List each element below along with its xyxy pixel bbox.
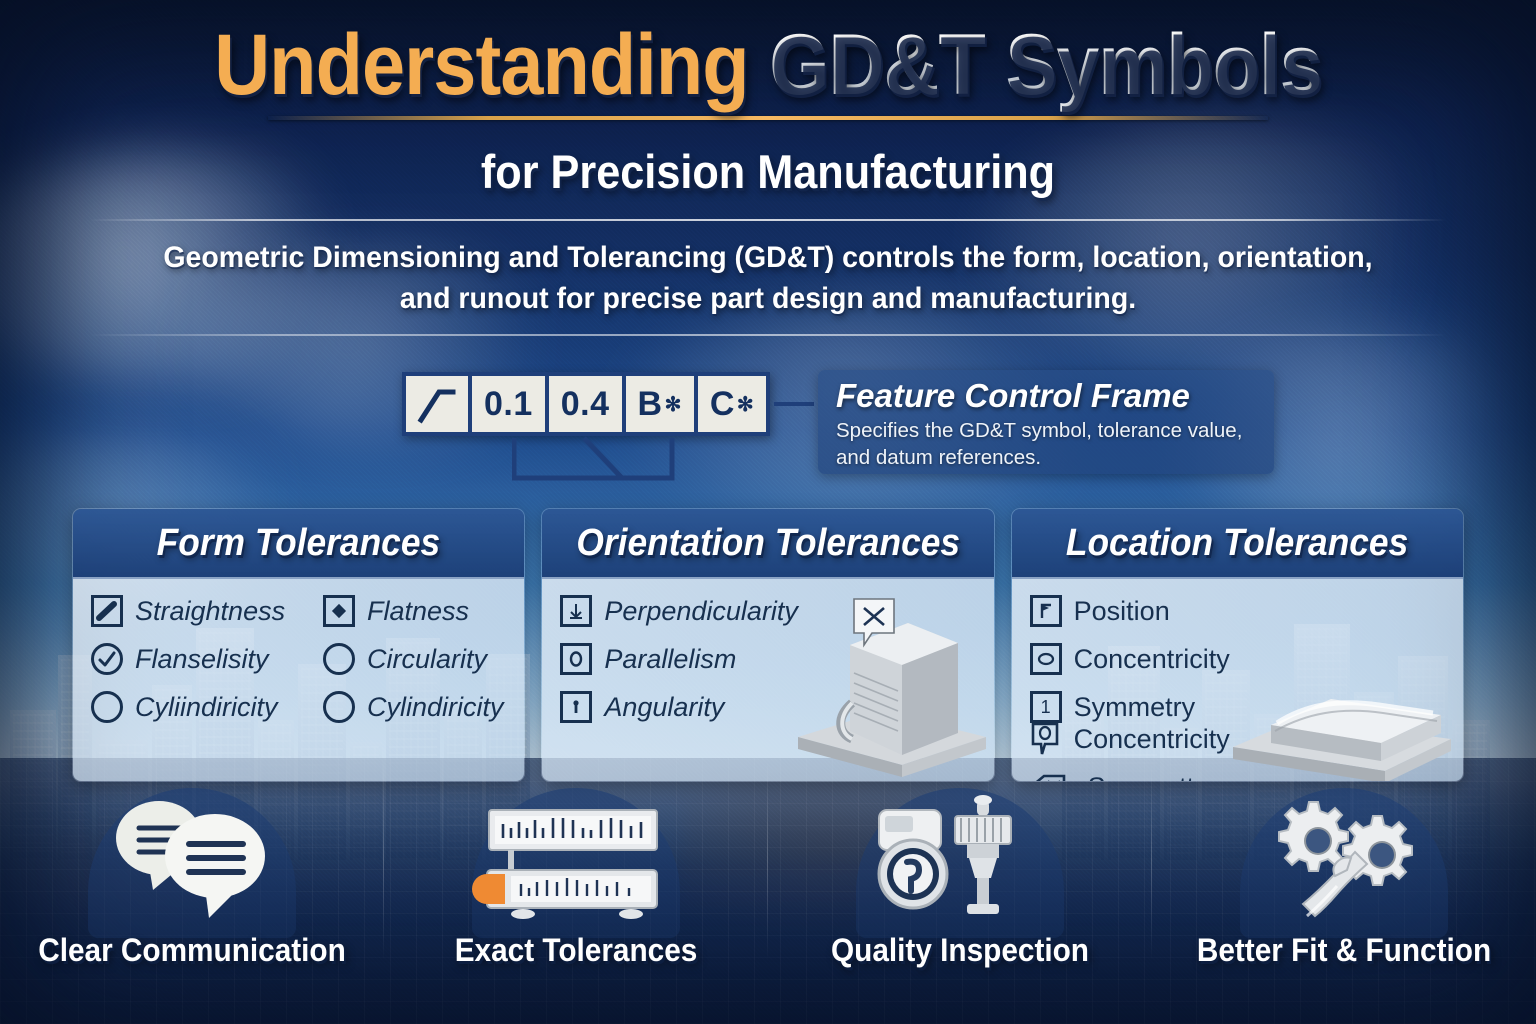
fcf-cell-datum-c: C✻ xyxy=(694,372,770,436)
card-orientation-header: Orientation Tolerances xyxy=(542,509,993,579)
benefit-label: Better Fit & Function xyxy=(1165,932,1522,969)
tolerance-item-concentricity-right[interactable]: Concentricity xyxy=(1030,723,1230,755)
header-divider-bottom xyxy=(90,334,1446,336)
form-column-left: Straightness Flanselisity Cyliindiricity xyxy=(91,595,323,723)
square-one-icon: 1 xyxy=(1030,691,1062,723)
tolerance-item-symmetry[interactable]: 1 Symmetry xyxy=(1030,691,1246,723)
tolerance-label: Perpendicularity xyxy=(604,596,798,627)
card-orientation-tolerances[interactable]: Orientation Tolerances Perpendicularity … xyxy=(541,508,994,782)
caliper-scale-icon xyxy=(471,786,681,936)
title-part-understanding: Understanding xyxy=(214,17,748,113)
callout-desc-line-2: and datum references. xyxy=(836,445,1258,471)
card-location-title: Location Tolerances xyxy=(1066,522,1408,565)
square-perpendicular-icon xyxy=(560,595,592,627)
tolerance-item-straightness[interactable]: Straightness xyxy=(91,595,323,627)
callout-description: Specifies the GD&T symbol, tolerance val… xyxy=(836,418,1258,470)
callout-desc-line-1: Specifies the GD&T symbol, tolerance val… xyxy=(836,418,1258,444)
tolerance-cards: Form Tolerances Straightness Flanse xyxy=(72,508,1464,782)
feature-control-frame-diagram: 0.1 0.4 B✻ C✻ xyxy=(402,372,770,436)
card-orientation-body: Perpendicularity Parallelism Angularity xyxy=(542,579,993,781)
benefit-exact-tolerances[interactable]: Exact Tolerances xyxy=(384,780,768,1024)
benefit-icon-wrapper xyxy=(855,786,1065,936)
square-pin-icon xyxy=(560,691,592,723)
gold-accent-rule xyxy=(268,116,1268,120)
tolerance-label: Flatness xyxy=(367,596,469,627)
angularity-symbol-icon xyxy=(415,382,459,426)
tolerance-item-flanselisity[interactable]: Flanselisity xyxy=(91,643,323,675)
speech-bubbles-icon xyxy=(87,786,297,936)
leader-line xyxy=(512,436,812,482)
page-subtitle: for Precision Manufacturing xyxy=(61,144,1474,199)
tolerance-item-position[interactable]: Position xyxy=(1030,595,1246,627)
feature-control-frame-callout: Feature Control Frame Specifies the GD&T… xyxy=(818,370,1274,474)
card-location-tolerances[interactable]: Location Tolerances Position Concen xyxy=(1011,508,1464,782)
tolerance-label: Angularity xyxy=(604,692,724,723)
benefit-clear-communication[interactable]: Clear Communication xyxy=(0,780,384,1024)
tolerance-label: Circularity xyxy=(367,644,487,675)
header-divider-top xyxy=(90,219,1446,221)
benefit-icon-wrapper xyxy=(87,786,297,936)
form-column-right: Flatness Circularity Cylindiricity xyxy=(323,595,504,723)
card-form-tolerances[interactable]: Form Tolerances Straightness Flanse xyxy=(72,508,525,782)
gears-wrench-icon xyxy=(1239,786,1449,936)
page-title: Understanding GD&T Symbols xyxy=(77,22,1459,108)
tolerance-label: Position xyxy=(1074,596,1170,627)
circle-icon xyxy=(323,691,355,723)
square-diamond-icon xyxy=(323,595,355,627)
form-tolerance-list: Straightness Flanselisity Cyliindiricity xyxy=(91,595,506,723)
callout-title: Feature Control Frame xyxy=(836,378,1258,414)
circle-check-icon xyxy=(91,643,123,675)
fcf-cell-datum-b: B✻ xyxy=(622,372,698,436)
datum-c-modifier: ✻ xyxy=(737,392,754,417)
circle-icon xyxy=(91,691,123,723)
tolerance-item-cylindiricity[interactable]: Cylindiricity xyxy=(323,691,504,723)
card-form-header: Form Tolerances xyxy=(73,509,524,579)
tolerance-label: Straightness xyxy=(135,596,285,627)
fcf-cell-tolerance-2: 0.4 xyxy=(545,372,626,436)
feature-control-frame: 0.1 0.4 B✻ C✻ xyxy=(402,372,770,436)
location-column-left: Position Concentricity 1 Symmetry xyxy=(1030,595,1246,723)
fcf-cell-symbol xyxy=(402,372,472,436)
card-location-header: Location Tolerances xyxy=(1012,509,1463,579)
location-column-right: Concentricity Symmetty xyxy=(1030,723,1230,782)
tolerance-label: Concentricity xyxy=(1074,644,1230,675)
callout-connector xyxy=(774,400,814,408)
benefit-quality-inspection[interactable]: Quality Inspection xyxy=(768,780,1152,1024)
card-orientation-title: Orientation Tolerances xyxy=(576,522,960,565)
datum-c-letter: C xyxy=(710,385,735,424)
card-form-title: Form Tolerances xyxy=(157,522,440,565)
intro-line-2: and runout for precise part design and m… xyxy=(38,278,1497,319)
benefit-label: Quality Inspection xyxy=(781,932,1138,969)
benefits-row: Clear Communication xyxy=(0,780,1536,1024)
tolerance-label: Concentricity xyxy=(1074,724,1230,755)
square-flag-icon xyxy=(1030,595,1062,627)
intro-line-1: Geometric Dimensioning and Tolerancing (… xyxy=(38,237,1497,278)
tolerance-item-flatness[interactable]: Flatness xyxy=(323,595,504,627)
benefit-better-fit-function[interactable]: Better Fit & Function xyxy=(1152,780,1536,1024)
benefit-icon-wrapper xyxy=(471,786,681,936)
circle-icon xyxy=(323,643,355,675)
header: Understanding GD&T Symbols for Precision… xyxy=(0,22,1536,336)
card-form-body: Straightness Flanselisity Cyliindiricity xyxy=(73,579,524,781)
tolerance-label: Cyliindiricity xyxy=(135,692,278,723)
block-on-base-illustration xyxy=(790,587,990,777)
datum-b-letter: B xyxy=(638,385,663,424)
benefit-label: Clear Communication xyxy=(13,932,370,969)
callout-o-icon xyxy=(1030,723,1062,755)
micrometer-gauge-icon xyxy=(855,786,1065,936)
fcf-cell-tolerance-1: 0.1 xyxy=(468,372,549,436)
tolerance-label: Parallelism xyxy=(604,644,736,675)
title-part-gdt-symbols: GD&T Symbols xyxy=(769,17,1322,113)
tolerance-label: Cylindiricity xyxy=(367,692,504,723)
tolerance-item-cyliindiricity[interactable]: Cyliindiricity xyxy=(91,691,323,723)
intro-paragraph: Geometric Dimensioning and Tolerancing (… xyxy=(38,237,1497,320)
datum-b-modifier: ✻ xyxy=(665,392,682,417)
card-location-body: Position Concentricity 1 Symmetry xyxy=(1012,579,1463,781)
benefit-icon-wrapper xyxy=(1239,786,1449,936)
square-o-icon xyxy=(560,643,592,675)
tolerance-item-concentricity-left[interactable]: Concentricity xyxy=(1030,643,1246,675)
benefit-label: Exact Tolerances xyxy=(397,932,754,969)
tolerance-label: Flanselisity xyxy=(135,644,269,675)
square-slash-icon xyxy=(91,595,123,627)
tolerance-label: Symmetry xyxy=(1074,692,1196,723)
square-ellipse-icon xyxy=(1030,643,1062,675)
tolerance-item-circularity[interactable]: Circularity xyxy=(323,643,504,675)
rounded-bar-on-plate-illustration xyxy=(1227,661,1457,781)
